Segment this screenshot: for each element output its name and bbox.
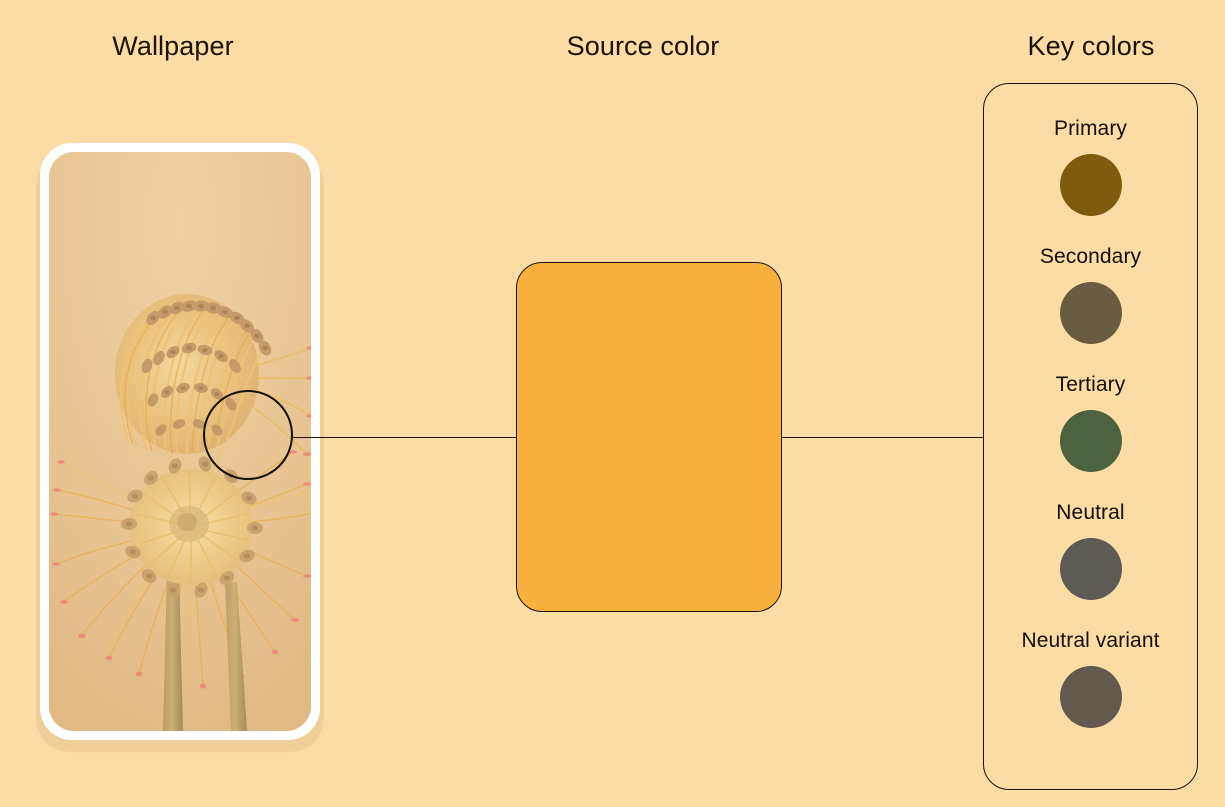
- key-color-swatch-neutral-variant: [1060, 666, 1122, 728]
- key-color-row: Primary: [984, 116, 1197, 216]
- key-color-swatch-neutral: [1060, 538, 1122, 600]
- key-color-label: Neutral: [1056, 500, 1124, 526]
- key-color-row: Secondary: [984, 244, 1197, 344]
- diagram-canvas: Wallpaper Source color Key colors: [0, 0, 1225, 807]
- heading-wallpaper: Wallpaper: [0, 31, 346, 62]
- heading-key-colors: Key colors: [960, 31, 1222, 62]
- connector-line-source-to-key-colors: [782, 437, 984, 438]
- key-color-row: Neutral: [984, 500, 1197, 600]
- key-color-swatch-secondary: [1060, 282, 1122, 344]
- key-colors-panel: Primary Secondary Tertiary Neutral Neutr…: [983, 83, 1198, 790]
- sample-region-circle: [203, 390, 293, 480]
- key-color-row: Tertiary: [984, 372, 1197, 472]
- key-color-swatch-primary: [1060, 154, 1122, 216]
- source-color-swatch: [516, 262, 782, 612]
- key-color-label: Primary: [1054, 116, 1127, 142]
- key-color-label: Tertiary: [1056, 372, 1126, 398]
- connector-line-wallpaper-to-source: [293, 437, 517, 438]
- key-color-label: Neutral variant: [1021, 628, 1159, 654]
- key-color-label: Secondary: [1040, 244, 1141, 270]
- key-color-swatch-tertiary: [1060, 410, 1122, 472]
- heading-source-color: Source color: [470, 31, 816, 62]
- key-color-row: Neutral variant: [984, 628, 1197, 728]
